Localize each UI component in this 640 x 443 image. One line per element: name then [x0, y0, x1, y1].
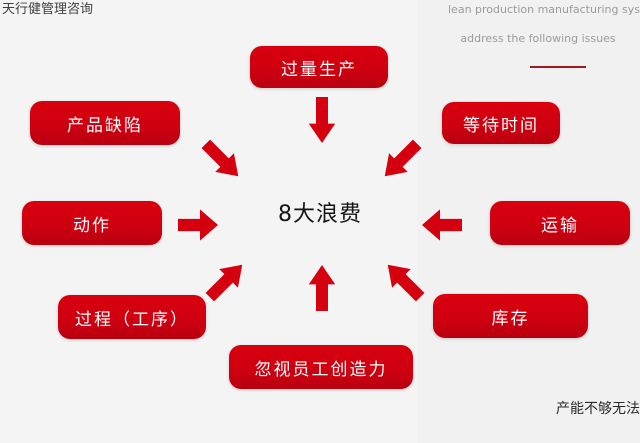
heading-divider-rule [530, 66, 586, 68]
heading-line-1: lean production manufacturing systems [448, 3, 640, 16]
waste-box-process[interactable]: 过程（工序） [58, 295, 206, 339]
watermark-bottom-right: 产能不够无法 [556, 398, 640, 418]
waste-box-creativity[interactable]: 忽视员工创造力 [229, 345, 413, 389]
waste-box-inventory[interactable]: 库存 [433, 294, 588, 338]
waste-box-overproduction[interactable]: 过量生产 [250, 46, 388, 88]
slide-canvas: 天行健管理咨询 lean production manufacturing sy… [0, 0, 640, 443]
waste-box-defects[interactable]: 产品缺陷 [30, 101, 180, 145]
heading-line-2: address the following issues [448, 32, 628, 45]
center-hub-label: 8大浪费 [246, 196, 394, 228]
waste-box-motion[interactable]: 动作 [22, 201, 162, 245]
waste-box-transport[interactable]: 运输 [490, 201, 630, 245]
watermark-top-left: 天行健管理咨询 [2, 0, 93, 17]
waste-box-waiting[interactable]: 等待时间 [442, 102, 560, 144]
